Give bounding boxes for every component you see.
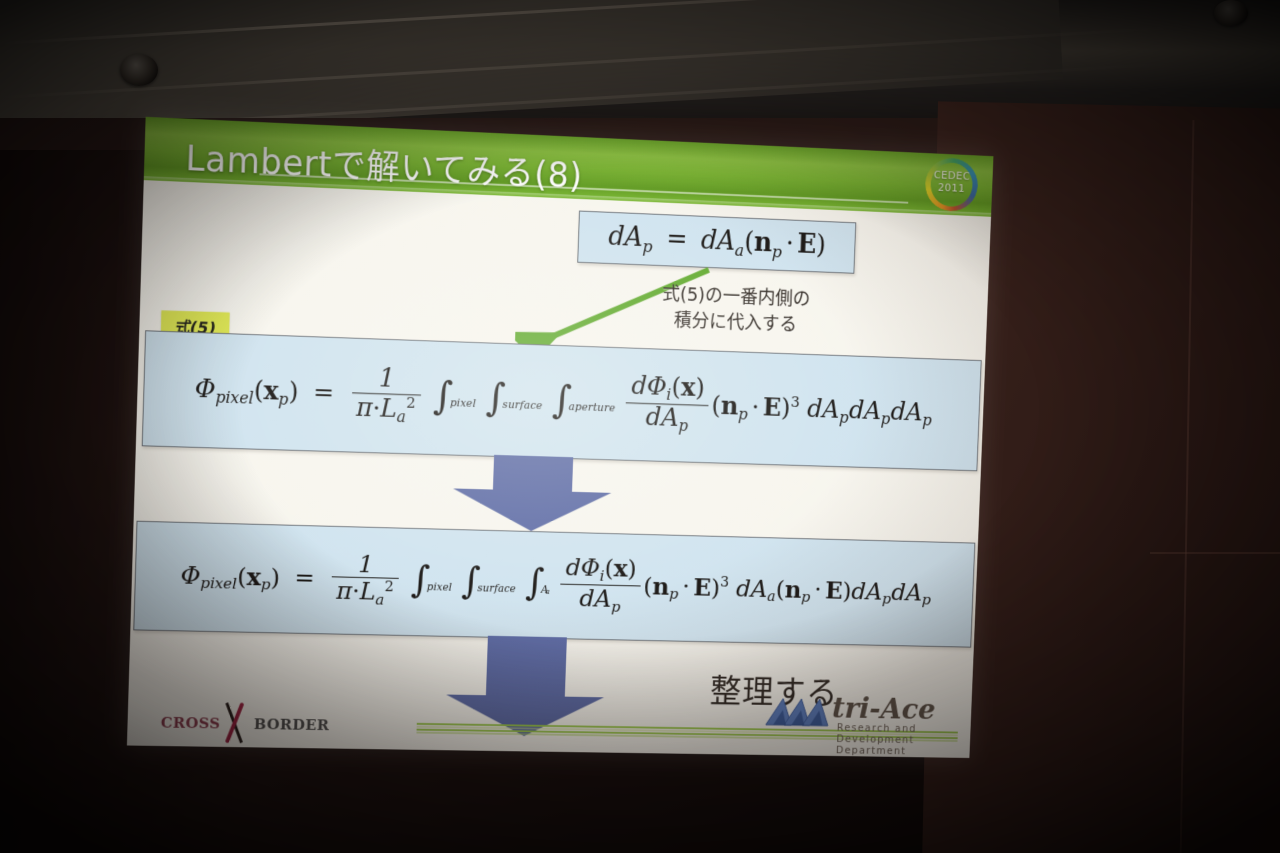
eq6-tail-A2: A xyxy=(905,578,922,606)
eq6-integral-1-sub: pixel xyxy=(427,581,453,593)
eq6-phi: Φ xyxy=(180,561,201,590)
eq5-tail-s3: p xyxy=(922,411,932,429)
equation-top: dAp = dAa(np·E) xyxy=(579,221,855,264)
down-arrow-1 xyxy=(452,454,613,533)
eq6-arg-sub: p xyxy=(261,576,271,594)
eq5-tail-d3: d xyxy=(890,398,906,427)
equation-box-6: Φpixel(xp) = 1 π·La2 ∫pixel ∫surface ∫Aa… xyxy=(133,521,975,648)
equation-6: Φpixel(xp) = 1 π·La2 ∫pixel ∫surface ∫Aa… xyxy=(135,545,973,624)
eq6-dphi-den-d: d xyxy=(579,585,595,613)
eq6-tail-d1: d xyxy=(851,577,867,605)
eq5-dot-mid: · xyxy=(751,393,760,422)
eq6-dphi-x: x xyxy=(613,554,628,582)
cross-border-logo: CROSS BORDER xyxy=(160,702,364,744)
eq6-frac-den-L: L xyxy=(359,578,376,606)
eq6-dphi-den-A: A xyxy=(594,585,612,613)
eq5-integral-3: ∫ xyxy=(552,378,573,423)
eq5-dphi-den-A: A xyxy=(661,404,679,433)
eq5-phi: Φ xyxy=(194,374,216,404)
eq5-integral-2-sub: surface xyxy=(502,398,542,412)
eq5-tail-A1: A xyxy=(822,395,840,424)
title-underline xyxy=(259,173,908,203)
eq6-phi-sub: pixel xyxy=(200,574,237,592)
eq6-power: 3 xyxy=(720,573,729,590)
eq5-coefficient-fraction: 1 π·La2 xyxy=(351,365,422,425)
eq-top-d: d xyxy=(608,222,625,253)
eq6-dot2-E: E xyxy=(825,576,843,604)
eq5-dot-n: n xyxy=(720,392,739,421)
eq6-dphi-phi: Φ xyxy=(580,553,600,581)
eq6-arg-close: ) xyxy=(270,563,280,591)
eq6-frac-den-sup: 2 xyxy=(384,578,394,596)
projector-photo: Lambertで解いてみる(8) CEDEC 2011 dAp = dAa(np… xyxy=(0,0,1280,853)
eq6-dot2-mid: · xyxy=(814,576,822,604)
eq-top-paren-close: ) xyxy=(816,231,827,261)
eq6-tail-d2: d xyxy=(891,578,907,606)
cedec-2011-logo: CEDEC 2011 xyxy=(924,157,979,212)
eq5-dot-E: E xyxy=(762,393,781,422)
eq5-integral-2: ∫ xyxy=(485,375,506,420)
tri-ace-subtitle: Research and Development Department xyxy=(836,722,955,758)
eq-top-vector-E: E xyxy=(797,230,817,260)
eq5-frac-den-L: L xyxy=(380,394,397,424)
substitution-note-line2: 積分に代入する xyxy=(661,307,810,338)
eq6-frac-den-pi: π xyxy=(336,577,353,605)
eq5-frac-num: 1 xyxy=(378,364,395,394)
eq5-power: 3 xyxy=(790,394,800,411)
eq5-phi-sub: pixel xyxy=(215,388,254,408)
eq6-equals: = xyxy=(294,563,315,592)
eq6-dphi-den-sub: p xyxy=(611,598,621,615)
eq6-tail-s2: p xyxy=(922,591,932,608)
eq6-dot-mid: · xyxy=(682,573,690,601)
eq5-dphi-close: ) xyxy=(695,374,705,403)
down-arrow-1-shaft xyxy=(493,455,573,492)
projection-screen: Lambertで解いてみる(8) CEDEC 2011 dAp = dAa(np… xyxy=(0,0,1203,853)
eq-top-vector-n: n xyxy=(754,228,773,258)
eq-top-dot: · xyxy=(785,229,794,259)
eq6-dAa-A: A xyxy=(750,574,768,602)
equation-box-5: Φpixel(xp) = 1 π·La2 ∫pixel ∫surface ∫ap… xyxy=(142,330,982,471)
eq5-dot-close: ) xyxy=(781,394,791,423)
eq-top-n-sub-p: p xyxy=(772,241,783,261)
down-arrow-1-head xyxy=(452,488,612,533)
eq6-integral-2-sub: surface xyxy=(477,582,516,594)
eq6-dot-E: E xyxy=(693,573,712,601)
eq5-arg-x: x xyxy=(263,377,279,407)
down-arrow-2-shaft xyxy=(486,636,567,697)
eq5-integral-1-sub: pixel xyxy=(450,397,477,410)
eq5-tail-A3: A xyxy=(905,398,923,427)
eq5-dot-n-sub: p xyxy=(738,405,748,423)
eq5-tail-d1: d xyxy=(807,395,823,424)
eq5-integral-1: ∫ xyxy=(433,374,454,419)
eq5-dphi-den-sub: p xyxy=(678,417,688,435)
eq6-integral-1: ∫ xyxy=(410,558,430,601)
eq6-frac-num: 1 xyxy=(358,550,374,578)
eq6-coefficient-fraction: 1 π·La2 xyxy=(331,551,400,609)
equation-5: Φpixel(xp) = 1 π·La2 ∫pixel ∫surface ∫ap… xyxy=(144,358,980,445)
eq-top-rhs-A: A xyxy=(716,227,735,257)
eq-top-rhs-d: d xyxy=(700,226,717,256)
slide: Lambertで解いてみる(8) CEDEC 2011 dAp = dAa(np… xyxy=(127,117,994,758)
eq5-dphi-phi: Φ xyxy=(646,372,667,401)
eq-top-equals: = xyxy=(666,224,688,255)
eq6-dot-n: n xyxy=(652,572,670,600)
eq5-equals: = xyxy=(313,378,335,408)
eq5-dphi-den-d: d xyxy=(645,403,662,432)
eq6-dot2-n: n xyxy=(784,575,802,603)
eq6-dphi-d: d xyxy=(565,553,581,581)
cross-border-left-text: CROSS xyxy=(161,714,221,732)
substitution-note: 式(5)の一番内側の 積分に代入する xyxy=(661,281,811,338)
eq5-flux-fraction: dΦi(x) dAp xyxy=(625,374,710,436)
cedec-logo-line1: CEDEC xyxy=(925,168,978,183)
eq6-integral-2: ∫ xyxy=(461,560,481,603)
eq6-arg-x: x xyxy=(246,562,261,591)
cedec-logo-text: CEDEC 2011 xyxy=(925,168,978,195)
eq5-frac-den-sup: 2 xyxy=(406,394,416,412)
eq5-frac-den-sub: a xyxy=(396,407,406,426)
eq6-integral-3: ∫ xyxy=(525,561,545,604)
eq5-integral-3-sub: aperture xyxy=(568,401,615,415)
eq6-integral-3-sub-a: a xyxy=(545,587,550,596)
eq5-dphi-d: d xyxy=(631,372,648,401)
eq6-flux-fraction: dΦi(x) dAp xyxy=(559,555,641,616)
eq6-dot-n-sub: p xyxy=(669,585,679,602)
eq5-tail-A2: A xyxy=(864,397,882,426)
cedec-logo-line2: 2011 xyxy=(925,181,978,196)
tri-ace-logo: tri-Ace Research and Development Departm… xyxy=(763,691,956,749)
eq6-dphi-close: ) xyxy=(627,555,637,583)
page-title: Lambertで解いてみる(8) xyxy=(185,131,584,199)
eq-top-sub-p: p xyxy=(642,236,653,256)
eq6-dot2-n-sub: p xyxy=(801,588,811,605)
cross-border-right-text: BORDER xyxy=(254,715,330,734)
slide-title-bar: Lambertで解いてみる(8) CEDEC 2011 xyxy=(144,117,994,217)
eq6-dAa-d: d xyxy=(736,574,752,602)
ceiling-spotlight-icon xyxy=(1214,0,1248,26)
eq6-tail-A1: A xyxy=(865,577,882,605)
eq5-tail-d2: d xyxy=(848,396,864,425)
eq5-arg-close: ) xyxy=(288,377,299,407)
eq-top-A: A xyxy=(624,223,643,254)
eq5-frac-den-pi: π xyxy=(356,393,373,423)
eq5-dphi-x: x xyxy=(680,374,695,403)
